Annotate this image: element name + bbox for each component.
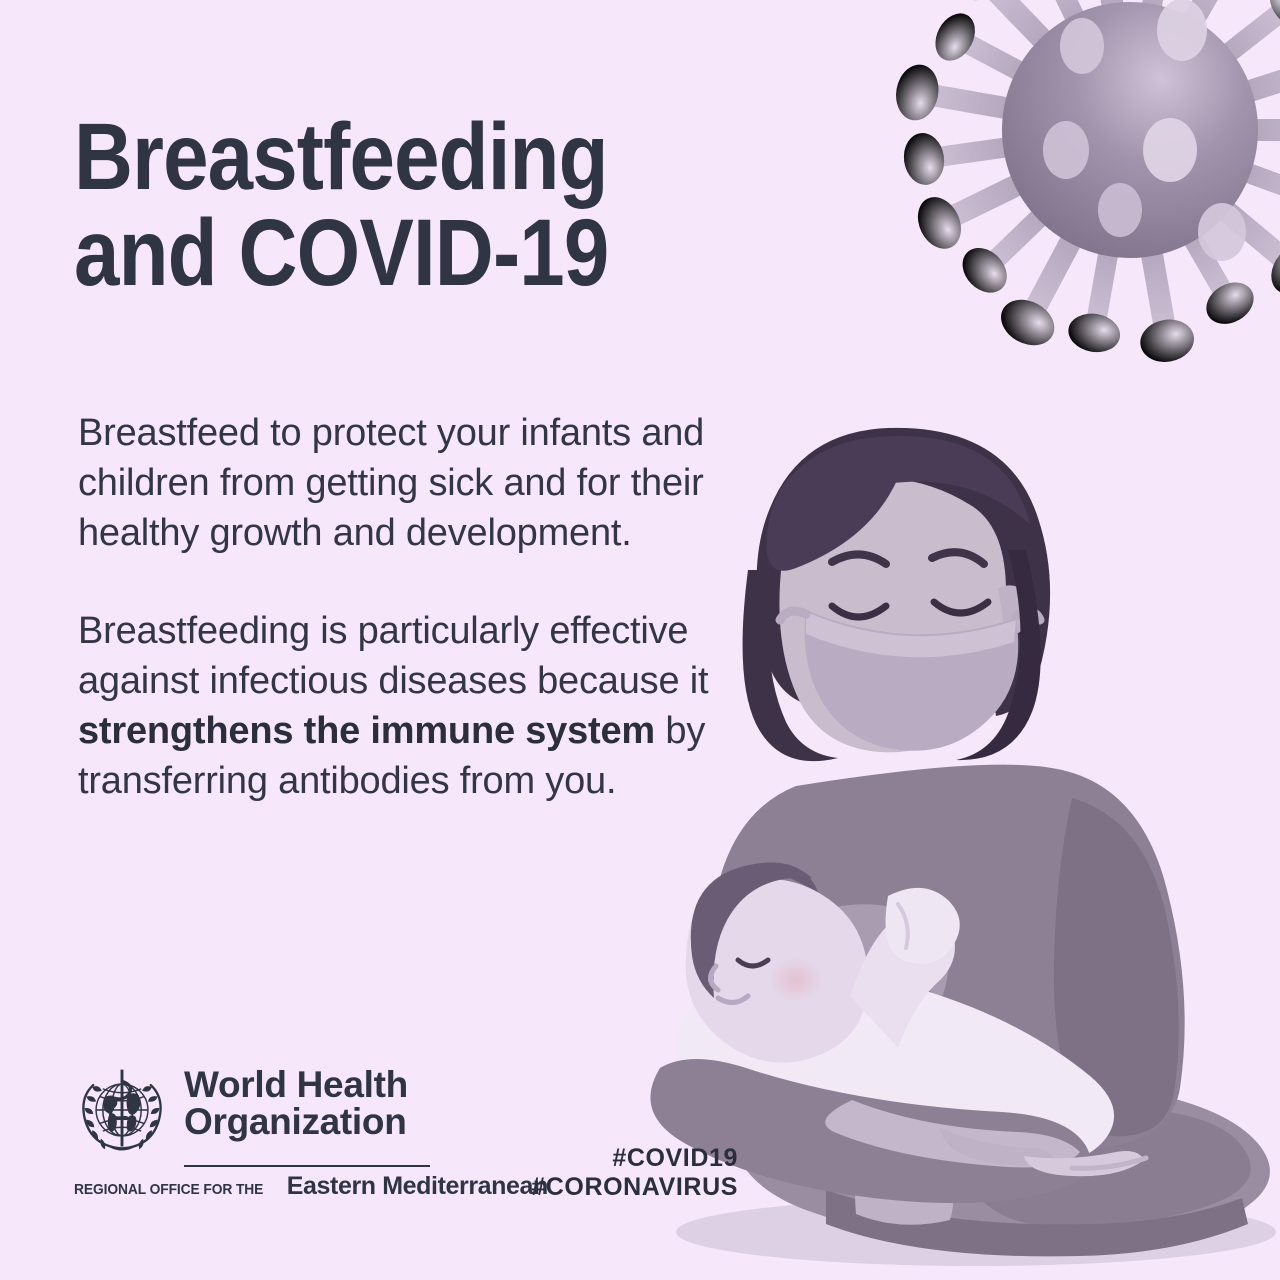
face-mask [780,610,1040,751]
hashtags: #COVID19 #CORONAVIRUS [448,1144,738,1202]
who-wordmark-line1: World Health [184,1066,408,1103]
coronavirus-particle-illustration [830,0,1280,410]
virus-body [1002,2,1258,258]
virus-surface-proteins [1043,0,1246,261]
baby-blanket [676,973,1114,1171]
legs [729,1086,1270,1256]
poster-canvas: Breastfeeding and COVID-19 Breastfeed to… [0,0,1280,1280]
paragraph-2-emphasis: strengthens the immune system [78,710,655,752]
baby-hair [691,863,812,998]
baby-head [686,879,868,1063]
who-logo-lockup: World Health Organization REGIONAL OFFIC… [74,1062,434,1201]
hashtag-covid19: #COVID19 [448,1144,738,1173]
paragraph-1: Breastfeed to protect your infants and c… [78,408,818,558]
paragraph-2: Breastfeeding is particularly effective … [78,606,818,806]
who-wordmark: World Health Organization [184,1062,408,1140]
foot [855,1137,954,1224]
hand-left [825,1100,1080,1167]
page-title: Breastfeeding and COVID-19 [74,112,834,299]
title-line-2: and COVID-19 [74,208,728,298]
who-divider [184,1165,430,1167]
body-copy: Breastfeed to protect your infants and c… [78,408,818,806]
hand-right [1024,1151,1144,1176]
virus-spikes [892,0,1280,366]
eye-left [832,606,886,617]
who-region-prefix: REGIONAL OFFICE FOR THE [74,1181,263,1198]
who-wordmark-line2: Organization [184,1103,408,1140]
torso [704,765,1185,1160]
hashtag-coronavirus: #CORONAVIRUS [448,1173,738,1202]
eye-right [934,602,988,613]
who-emblem-icon [74,1062,170,1158]
baby-arm [850,909,955,1048]
baby [676,863,1114,1171]
baby-fist [886,888,960,964]
title-line-1: Breastfeeding [74,112,728,202]
who-regional-office: REGIONAL OFFICE FOR THE Eastern Mediterr… [74,1172,434,1201]
paragraph-2-lead: Breastfeeding is particularly effective … [78,610,708,702]
figure-shadow [676,1198,1276,1266]
